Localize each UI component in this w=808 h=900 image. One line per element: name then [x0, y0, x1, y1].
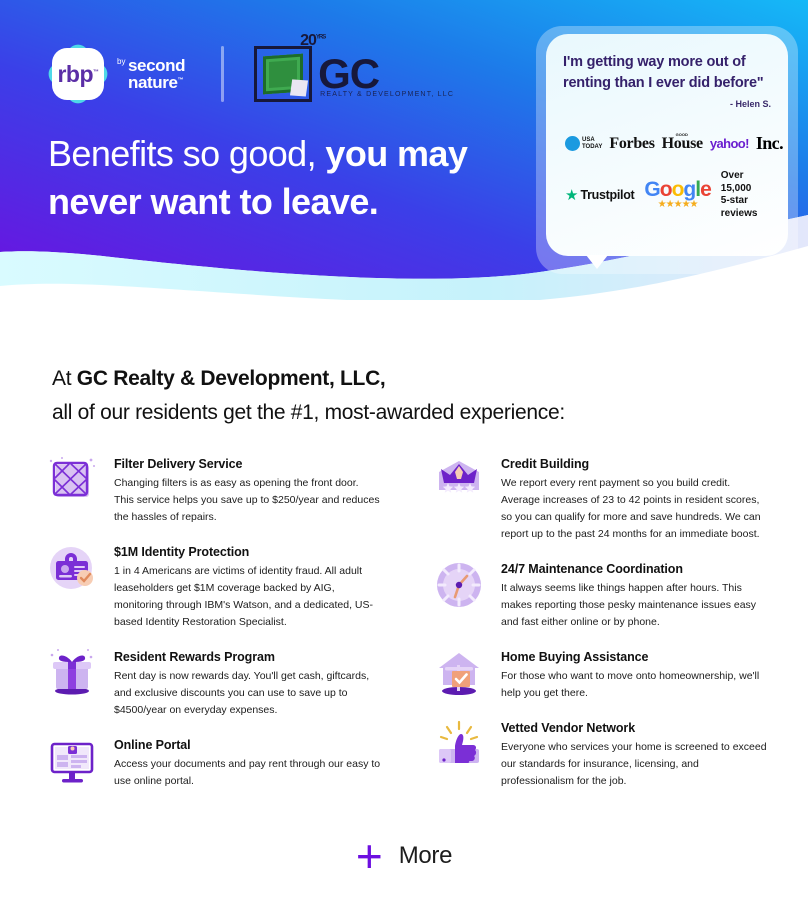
more-label: More	[399, 842, 452, 870]
benefit-item: $1M Identity Protection 1 in 4 Americans…	[44, 540, 381, 631]
gc-years: 20	[300, 32, 316, 49]
house-sup: GOOD	[676, 132, 688, 137]
gc-years-sup: YRS	[316, 35, 325, 41]
logo-lockup: rbp™ by second nature™ 20YRS GC	[48, 44, 379, 104]
logo-divider	[221, 46, 224, 102]
benefit-item: Online Portal Access your documents and …	[44, 733, 381, 790]
more-row[interactable]: + More	[0, 840, 808, 872]
headline-line1-normal: Benefits so good,	[48, 133, 325, 174]
hero-headline: Benefits so good, you may never want to …	[48, 130, 467, 225]
testimonial-card: I'm getting way more out of renting than…	[546, 34, 788, 256]
benefit-title: Credit Building	[501, 457, 768, 471]
benefit-item: Credit Building We report every rent pay…	[431, 452, 768, 543]
headline-line1-bold: you may	[325, 133, 467, 174]
benefit-description: Access your documents and pay rent throu…	[114, 756, 381, 790]
google-letter-g2: g	[683, 178, 695, 201]
benefit-title: Filter Delivery Service	[114, 457, 381, 471]
media-logos-row: USA TODAY Forbes GOODHouse yahoo! Inc.	[563, 133, 771, 154]
inc-logo: Inc.	[756, 133, 783, 154]
benefits-grid: Filter Delivery Service Changing filters…	[44, 452, 768, 804]
benefit-description: 1 in 4 Americans are victims of identity…	[114, 563, 381, 631]
id-badge-lock-icon	[44, 540, 100, 596]
flyer-page: rbp™ by second nature™ 20YRS GC	[0, 0, 808, 900]
second-nature-wordmark: by second nature™	[117, 57, 185, 92]
benefit-description: We report every rent payment so you buil…	[501, 475, 768, 543]
benefit-item: Resident Rewards Program Rent day is now…	[44, 645, 381, 719]
testimonial-author: - Helen S.	[563, 99, 771, 109]
review-count-line2: 5-star reviews	[721, 195, 771, 220]
clock-icon	[431, 557, 487, 613]
benefits-column-right: Credit Building We report every rent pay…	[431, 452, 768, 804]
benefit-title: Online Portal	[114, 738, 381, 752]
benefit-item: Filter Delivery Service Changing filters…	[44, 452, 381, 526]
benefit-title: 24/7 Maintenance Coordination	[501, 562, 768, 576]
gc-book-mark-icon	[254, 46, 312, 102]
section-title-company: GC Realty & Development, LLC,	[77, 367, 386, 390]
testimonial-quote: I'm getting way more out of renting than…	[563, 52, 771, 93]
rbp-wordmark: rbp	[57, 61, 93, 87]
rbp-second-nature-logo: rbp™ by second nature™	[48, 44, 185, 104]
trustpilot-label: Trustpilot	[580, 188, 634, 202]
trustpilot-star-icon: ★	[565, 188, 578, 203]
review-count: Over 15,000 5-star reviews	[721, 170, 771, 220]
air-filter-icon	[44, 452, 100, 508]
section-title-prefix: At	[52, 367, 77, 390]
benefit-description: Rent day is now rewards day. You'll get …	[114, 668, 381, 719]
usa-today-line2: TODAY	[582, 144, 602, 150]
plus-icon: +	[356, 840, 383, 872]
computer-monitor-icon	[44, 733, 100, 789]
benefit-title: Home Buying Assistance	[501, 650, 768, 664]
google-letter-g1: G	[644, 178, 659, 201]
gc-anniversary-badge: 20YRS	[300, 32, 325, 50]
google-logo: Google ★★★★★	[644, 181, 710, 210]
google-stars-icon: ★★★★★	[644, 200, 710, 210]
reviews-row: ★ Trustpilot Google ★★★★★ Over 15,000 5-…	[563, 170, 771, 220]
benefits-column-left: Filter Delivery Service Changing filters…	[44, 452, 381, 804]
house-beautiful-logo: GOODHouse	[662, 135, 703, 153]
second-nature-line2: nature	[128, 73, 178, 92]
yahoo-logo: yahoo!	[710, 136, 749, 151]
usa-today-logo: USA TODAY	[565, 136, 602, 151]
trustpilot-logo: ★ Trustpilot	[565, 188, 634, 203]
google-letter-o2: o	[672, 178, 684, 201]
hero-banner: rbp™ by second nature™ 20YRS GC	[0, 0, 808, 300]
gc-wordmark: GC	[318, 55, 379, 94]
benefit-description: For those who want to move onto homeowne…	[501, 668, 768, 702]
benefit-item: Vetted Vendor Network Everyone who servi…	[431, 716, 768, 790]
headline-line2: never want to leave.	[48, 178, 467, 226]
gc-realty-logo: 20YRS GC REALTY & DEVELOPMENT, LLC	[254, 46, 379, 102]
thumbs-up-icon	[431, 716, 487, 772]
rbp-badge-icon: rbp™	[48, 44, 108, 104]
benefit-description: Changing filters is as easy as opening t…	[114, 475, 381, 526]
benefit-title: Resident Rewards Program	[114, 650, 381, 664]
google-letter-e: e	[700, 178, 711, 201]
benefit-title: Vetted Vendor Network	[501, 721, 768, 735]
second-nature-trademark: ™	[178, 77, 184, 83]
benefit-description: It always seems like things happen after…	[501, 580, 768, 631]
crown-badge-stars-icon	[431, 452, 487, 508]
rbp-trademark: ™	[93, 69, 99, 75]
by-label: by	[117, 58, 125, 66]
forbes-logo: Forbes	[609, 135, 654, 153]
gift-box-icon	[44, 645, 100, 701]
benefit-title: $1M Identity Protection	[114, 545, 381, 559]
house-sold-sign-icon	[431, 645, 487, 701]
review-count-line1: Over 15,000	[721, 170, 771, 195]
benefit-item: 24/7 Maintenance Coordination It always …	[431, 557, 768, 631]
house-label: House	[662, 135, 703, 152]
usa-today-dot-icon	[565, 136, 580, 151]
second-nature-line1: second	[128, 57, 185, 74]
google-letter-o1: o	[660, 178, 672, 201]
benefit-description: Everyone who services your home is scree…	[501, 739, 768, 790]
benefit-item: Home Buying Assistance For those who wan…	[431, 645, 768, 702]
gc-subtitle: REALTY & DEVELOPMENT, LLC	[320, 91, 454, 98]
page-title: At GC Realty & Development, LLC, all of …	[52, 362, 565, 430]
section-title-line2: all of our residents get the #1, most-aw…	[52, 396, 565, 430]
